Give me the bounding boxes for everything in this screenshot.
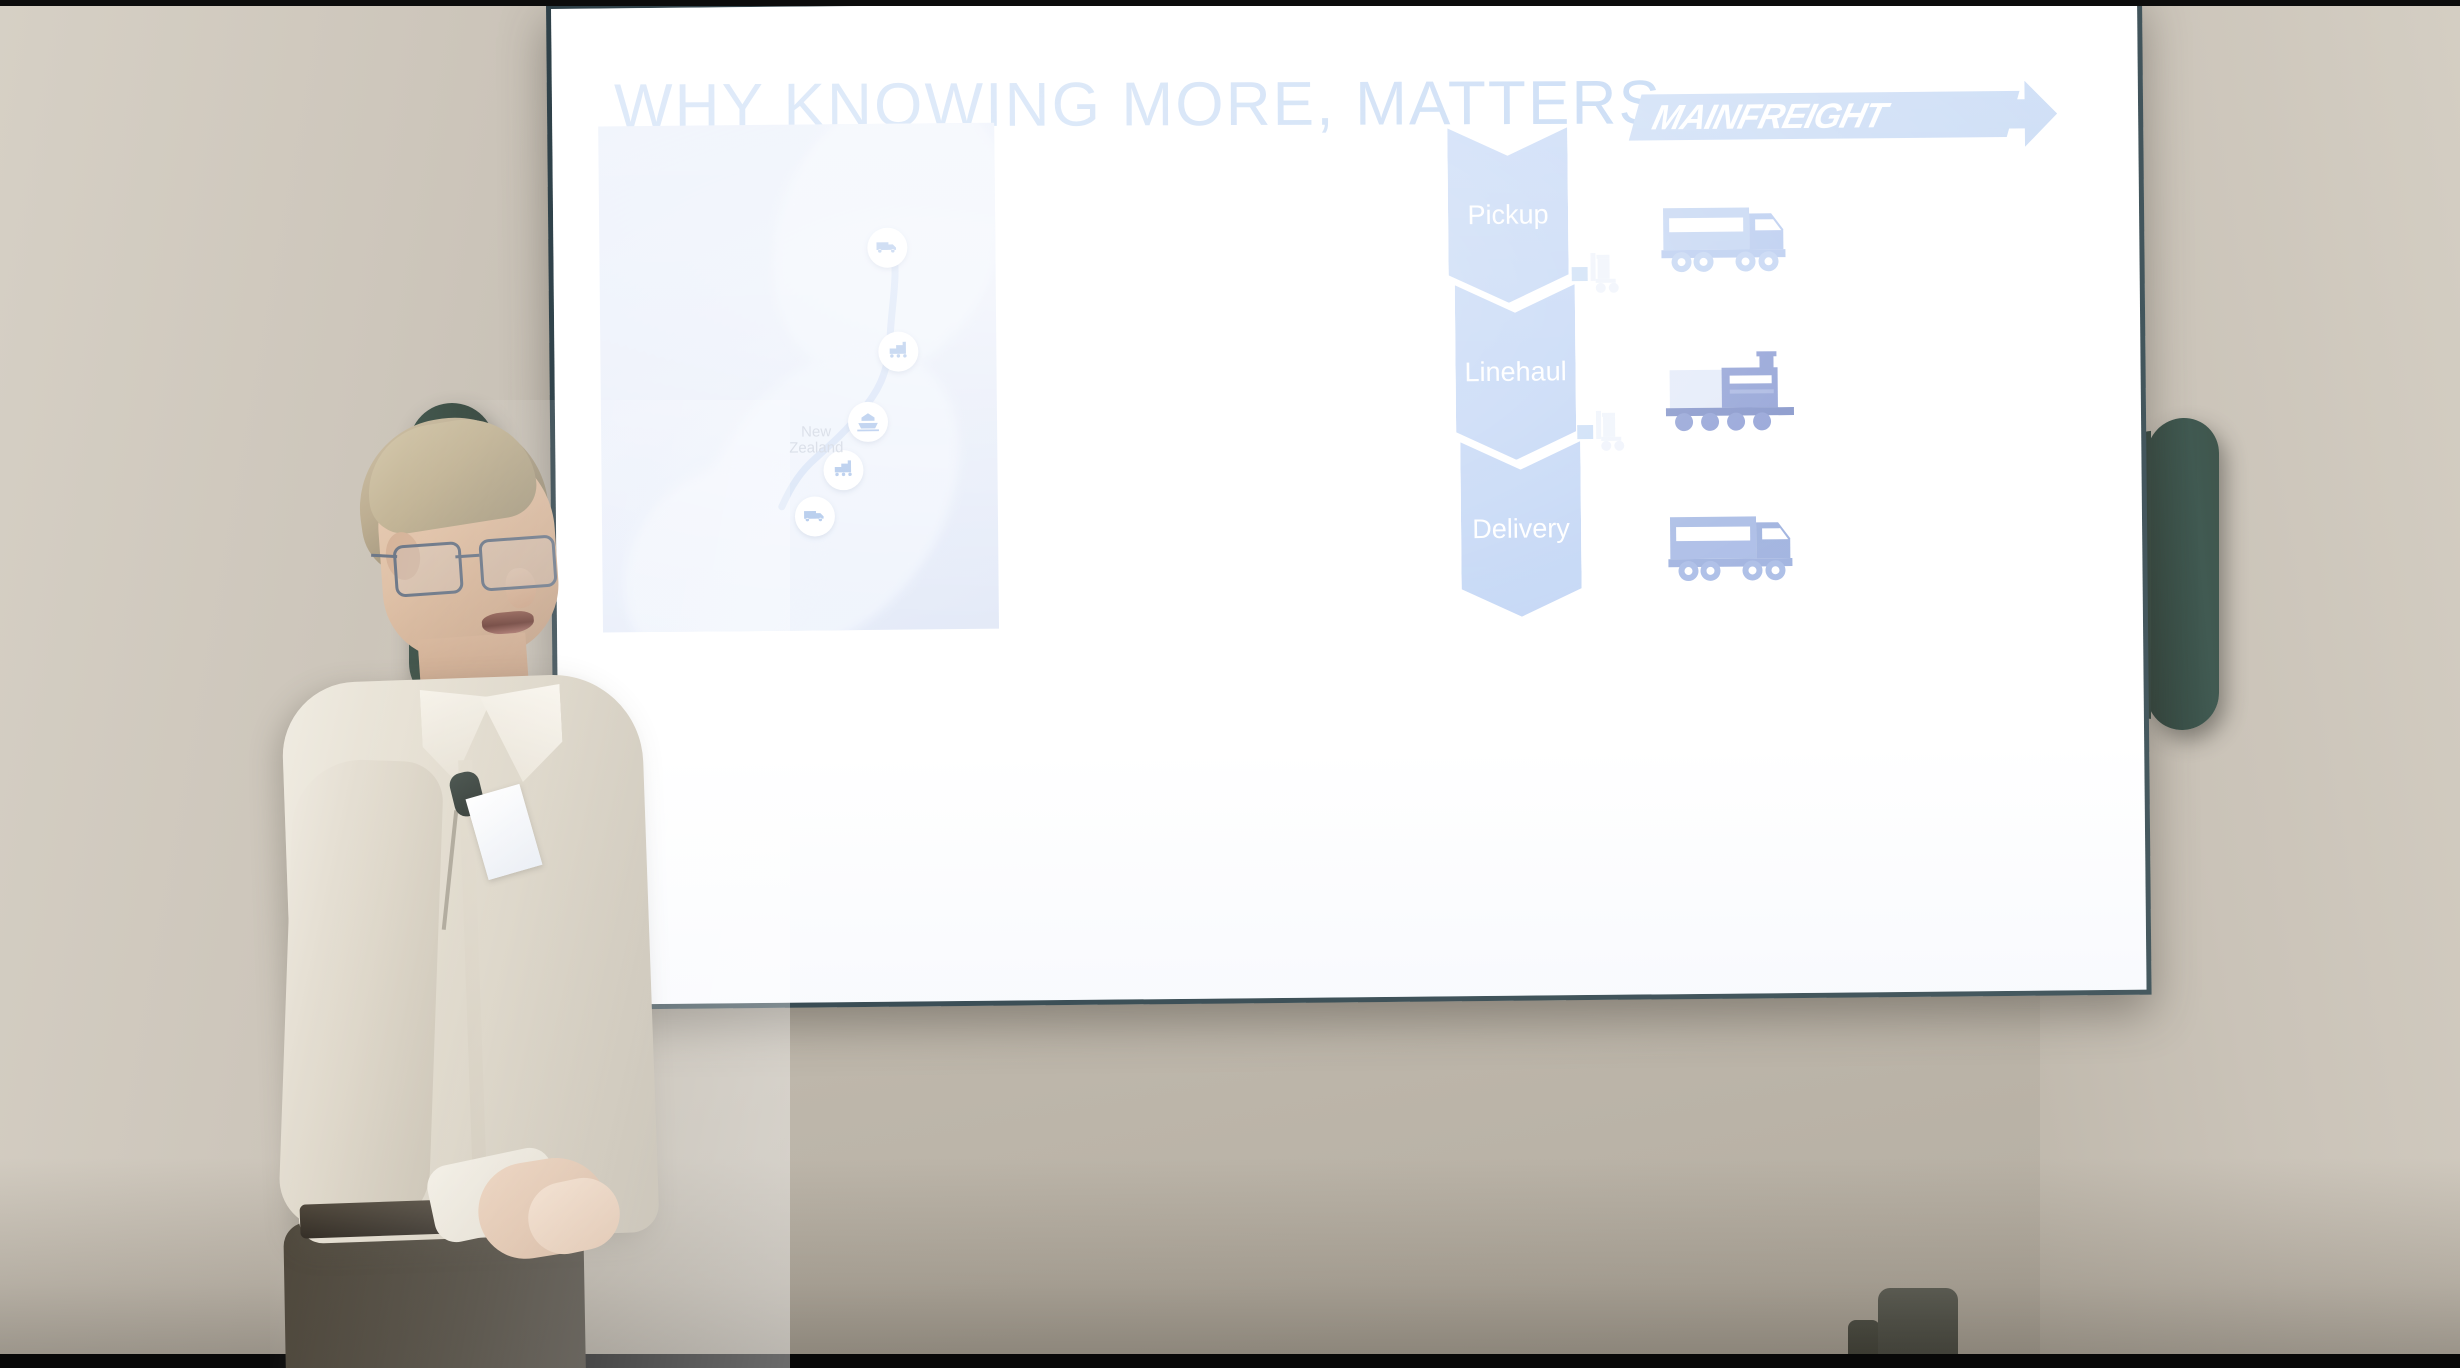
flow-step-pickup[interactable]: Pickup (1447, 127, 1569, 303)
truck-illustration-pickup (1655, 193, 1796, 279)
flow-step-linehaul[interactable]: Linehaul (1455, 284, 1577, 460)
truck-icon (802, 503, 828, 529)
train-icon (885, 339, 911, 365)
glasses-lens-left (392, 541, 463, 598)
flow-step-label: Delivery (1472, 513, 1570, 545)
presenter-arm (278, 758, 444, 1233)
wall-speaker-right (2147, 417, 2219, 731)
logo-wordmark: MAINFREIGHT (1648, 95, 2018, 139)
mainfreight-logo: MAINFREIGHT (1635, 72, 2066, 156)
flow-step-delivery[interactable]: Delivery (1460, 441, 1582, 617)
train-illustration-linehaul (1659, 349, 1800, 435)
map-pin-train-upper[interactable] (878, 331, 918, 371)
truck-illustration-delivery (1662, 502, 1803, 588)
flow-step-label: Linehaul (1464, 356, 1566, 388)
projection-screen-surface: WHY KNOWING MORE, MATTERS MAINFREIGHT (551, 0, 2146, 1005)
slide: WHY KNOWING MORE, MATTERS MAINFREIGHT (551, 0, 2146, 1005)
presenter (270, 400, 790, 1368)
map-pin-truck-top[interactable] (867, 228, 907, 268)
forklift-icon-pickup (1571, 249, 1627, 302)
glasses-bridge (455, 554, 479, 559)
letterbox-top (0, 0, 2460, 6)
flow-step-label: Pickup (1467, 199, 1548, 231)
glasses-lens-right (478, 534, 557, 591)
train-icon (830, 457, 856, 483)
forklift-icon-linehaul (1577, 407, 1633, 460)
truck-icon (874, 235, 900, 261)
conference-room: WHY KNOWING MORE, MATTERS MAINFREIGHT (0, 0, 2460, 1368)
map-pin-truck-bottom[interactable] (795, 496, 835, 536)
